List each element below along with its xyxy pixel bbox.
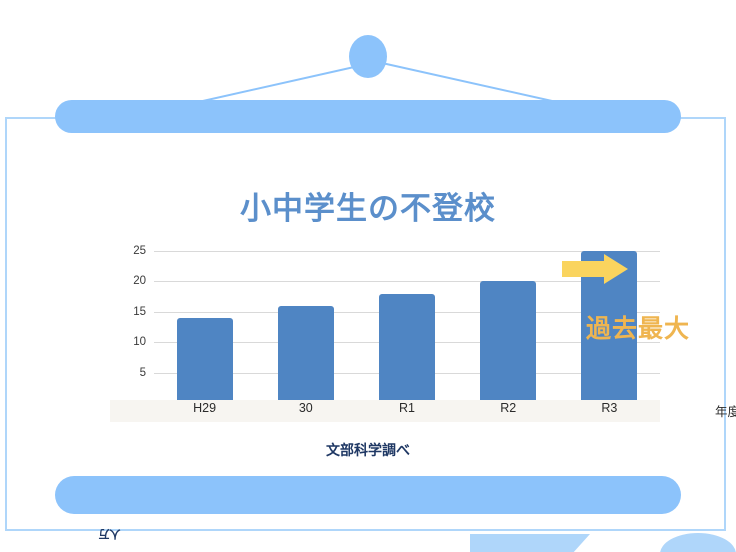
y-tick-label: 25 <box>133 245 146 257</box>
bar-chart: 万人 510152025 過去最大 H2930R1R2R3 年度 <box>100 243 660 418</box>
x-axis-unit-label: 年度 <box>715 401 736 420</box>
x-tick-label: R1 <box>399 401 415 415</box>
x-tick-label: H29 <box>193 401 216 415</box>
x-tick-label: 30 <box>299 401 313 415</box>
source-note: 文部科学調べ <box>0 440 736 460</box>
callout-annotation: 過去最大 <box>586 309 690 345</box>
y-axis-ticks: 510152025 <box>118 243 150 395</box>
y-tick-label: 10 <box>133 336 146 348</box>
slide-canvas: 小中学生の不登校 万人 510152025 過去最大 H2930R1R2R3 年… <box>0 0 736 552</box>
bar-R2 <box>480 281 536 403</box>
page-title: 小中学生の不登校 <box>0 183 736 228</box>
bottom-decoration-right <box>660 533 736 552</box>
banner-bar-bottom <box>55 476 681 514</box>
y-tick-label: 15 <box>133 306 146 318</box>
bar-H29 <box>177 318 233 403</box>
right-arrow-icon <box>562 254 628 284</box>
bottom-decoration-left <box>470 534 590 552</box>
bar-R1 <box>379 294 435 403</box>
banner-bar-top <box>55 100 681 133</box>
x-tick-label: R3 <box>601 401 617 415</box>
plot-area: 過去最大 <box>154 251 660 403</box>
y-axis-label: 万人 <box>100 529 118 540</box>
y-tick-label: 20 <box>133 275 146 287</box>
y-tick-label: 5 <box>140 367 146 379</box>
x-tick-label: R2 <box>500 401 516 415</box>
bar-30 <box>278 306 334 403</box>
